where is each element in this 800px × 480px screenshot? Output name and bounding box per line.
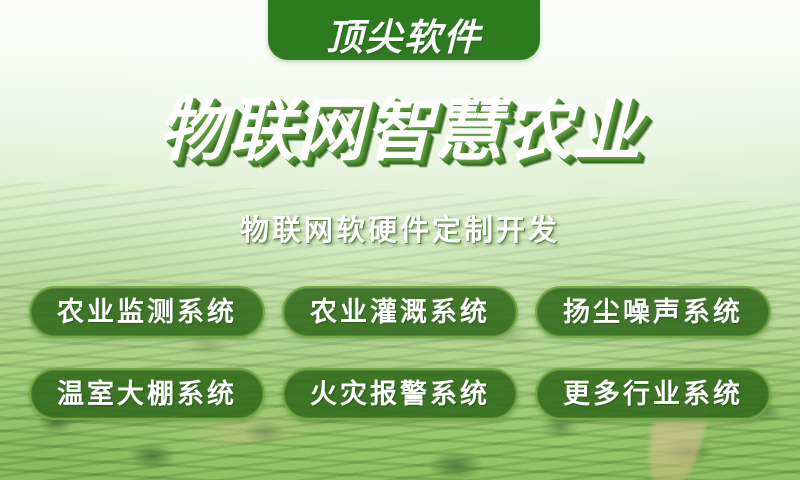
headline-title: 物联网智慧农业	[0, 96, 800, 167]
brand-badge-label: 顶尖软件	[326, 19, 482, 56]
pill-label: 更多行业系统	[563, 381, 743, 408]
pill-agriculture-monitoring[interactable]: 农业监测系统	[29, 286, 265, 338]
pill-greenhouse[interactable]: 温室大棚系统	[29, 368, 265, 420]
pill-label: 农业监测系统	[57, 299, 237, 326]
service-pill-group: 农业监测系统 农业灌溉系统 扬尘噪声系统 温室大棚系统 火灾报警系统 更多行业系…	[0, 286, 800, 450]
pill-label: 农业灌溉系统	[310, 299, 490, 326]
service-pill-row-1: 农业监测系统 农业灌溉系统 扬尘噪声系统	[0, 286, 800, 338]
pill-dust-noise[interactable]: 扬尘噪声系统	[535, 286, 771, 338]
brand-badge: 顶尖软件	[268, 0, 540, 60]
pill-fire-alarm[interactable]: 火灾报警系统	[282, 368, 518, 420]
pill-label: 扬尘噪声系统	[563, 299, 743, 326]
pill-more-industries[interactable]: 更多行业系统	[535, 368, 771, 420]
subtitle-text: 物联网软硬件定制开发	[0, 207, 800, 249]
pill-agriculture-irrigation[interactable]: 农业灌溉系统	[282, 286, 518, 338]
pill-label: 火灾报警系统	[310, 381, 490, 408]
service-pill-row-2: 温室大棚系统 火灾报警系统 更多行业系统	[0, 368, 800, 420]
promo-banner: 顶尖软件 物联网智慧农业 物联网软硬件定制开发 农业监测系统 农业灌溉系统 扬尘…	[0, 0, 800, 480]
pill-label: 温室大棚系统	[57, 381, 237, 408]
